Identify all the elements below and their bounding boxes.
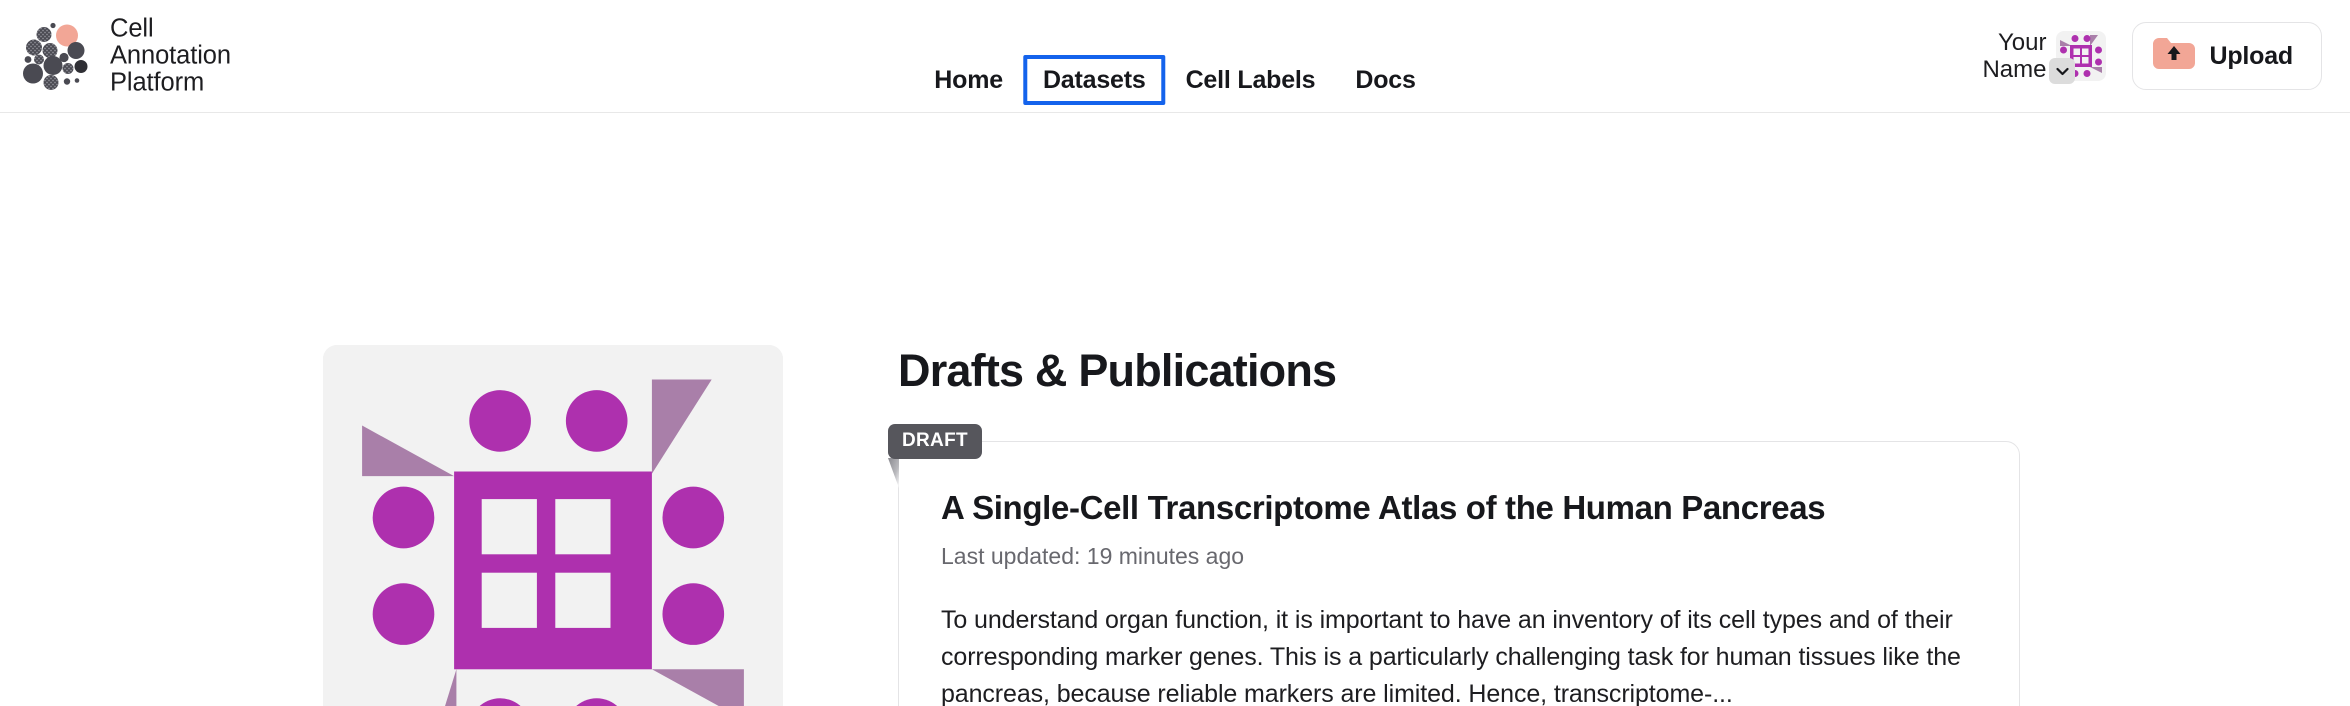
- header-right-cluster: Your Name: [1982, 22, 2322, 90]
- nav-item-datasets[interactable]: Datasets: [1023, 55, 1166, 105]
- user-menu-button[interactable]: Your Name: [1982, 29, 2106, 83]
- publication-last-updated: Last updated: 19 minutes ago: [941, 542, 1977, 570]
- page-title: Drafts & Publications: [898, 345, 2020, 397]
- identicon-grid-dots-icon: [323, 345, 783, 706]
- avatar[interactable]: [2056, 31, 2106, 81]
- ribbon-tail: [888, 458, 899, 488]
- brand-logo-link[interactable]: Cell Annotation Platform: [20, 16, 231, 97]
- publication-thumbnail[interactable]: [323, 345, 783, 706]
- upload-button-label: Upload: [2209, 42, 2293, 71]
- nav-item-cell-labels[interactable]: Cell Labels: [1166, 55, 1336, 105]
- nav-item-docs[interactable]: Docs: [1335, 55, 1435, 105]
- publication-title[interactable]: A Single-Cell Transcriptome Atlas of the…: [941, 488, 1977, 528]
- app-header: Cell Annotation Platform Home Datasets C…: [0, 0, 2350, 113]
- publication-content-column: Drafts & Publications DRAFT A Single-Cel…: [898, 345, 2020, 706]
- publication-abstract: To understand organ function, it is impo…: [941, 602, 1977, 706]
- user-name-label: Your Name: [1982, 29, 2046, 83]
- chevron-down-icon[interactable]: [2049, 58, 2075, 84]
- brand-name: Cell Annotation Platform: [110, 16, 231, 97]
- folder-upload-icon: [2153, 37, 2195, 75]
- upload-button[interactable]: Upload: [2132, 22, 2322, 90]
- nav-item-home[interactable]: Home: [914, 55, 1023, 105]
- draft-status-ribbon: DRAFT: [888, 424, 982, 459]
- publication-card[interactable]: DRAFT A Single-Cell Transcriptome Atlas …: [898, 441, 2020, 706]
- cell-cluster-logo-icon: [20, 19, 96, 93]
- publication-thumbnail-column: [323, 345, 783, 706]
- status-badge: DRAFT: [888, 424, 982, 459]
- primary-nav: Home Datasets Cell Labels Docs: [914, 55, 1435, 105]
